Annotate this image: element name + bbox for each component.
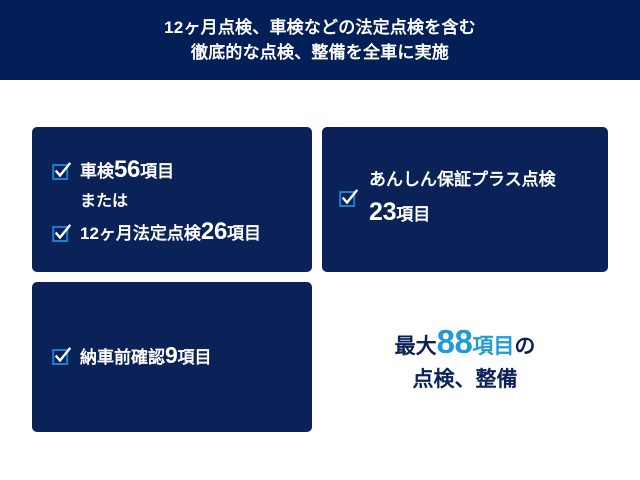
warranty-number: 23: [369, 198, 396, 226]
checkbox-checked-icon: [52, 224, 71, 243]
summary-block: 最大88項目の 点検、整備: [322, 325, 608, 396]
card-warranty-content: あんしん保証プラス点検 23項目: [339, 165, 600, 232]
inspection-legal-number: 26: [201, 218, 227, 245]
card-warranty: あんしん保証プラス点検 23項目: [322, 127, 608, 272]
card-inspection: 車検56項目 または 12ヶ月法定点検26項目: [32, 127, 312, 272]
inspection-shaken-text: 車検56項目: [80, 159, 174, 183]
inspection-legal-unit: 項目: [227, 224, 261, 243]
predelivery-number: 9: [165, 342, 178, 368]
header-line-2: 徹底的な点検、整備を全車に実施: [191, 40, 449, 65]
warranty-unit: 項目: [396, 205, 430, 224]
inspection-or-label: または: [80, 191, 128, 213]
summary-unit: 項目: [472, 335, 514, 358]
summary-line-2: 点検、整備: [322, 364, 608, 396]
inspection-shaken-unit: 項目: [140, 162, 174, 181]
checkbox-checked-icon: [52, 162, 71, 181]
predelivery-label: 納車前確認: [80, 348, 165, 367]
inspection-row-shaken: 車検56項目: [52, 156, 302, 186]
predelivery-text: 納車前確認9項目: [80, 344, 212, 369]
summary-suffix: の: [514, 335, 535, 358]
warranty-text-block: あんしん保証プラス点検 23項目: [369, 165, 556, 232]
inspection-shaken-number: 56: [114, 156, 140, 183]
card-predelivery-content: 納車前確認9項目: [52, 344, 302, 369]
card-inspection-content: 車検56項目 または 12ヶ月法定点検26項目: [52, 156, 302, 249]
predelivery-unit: 項目: [178, 348, 212, 367]
warranty-count: 23項目: [369, 195, 556, 232]
inspection-shaken-label: 車検: [80, 162, 114, 181]
header-line-1: 12ヶ月点検、車検などの法定点検を含む: [164, 15, 476, 40]
inspection-legal-label: 12ヶ月法定点検: [80, 224, 201, 243]
inspection-legal-text: 12ヶ月法定点検26項目: [80, 221, 261, 245]
card-predelivery: 納車前確認9項目: [32, 282, 312, 432]
inspection-row-or: または: [52, 187, 302, 217]
header-banner: 12ヶ月点検、車検などの法定点検を含む 徹底的な点検、整備を全車に実施: [0, 0, 640, 80]
summary-number: 88: [437, 323, 473, 360]
inspection-row-legal: 12ヶ月法定点検26項目: [52, 218, 302, 248]
warranty-title: あんしん保証プラス点検: [369, 165, 556, 195]
infographic-page: 12ヶ月点検、車検などの法定点検を含む 徹底的な点検、整備を全車に実施 車検56…: [0, 0, 640, 480]
summary-line-1: 最大88項目の: [322, 325, 608, 364]
checkbox-checked-icon: [339, 189, 358, 208]
summary-prefix: 最大: [395, 335, 437, 358]
checkbox-checked-icon: [52, 347, 71, 366]
